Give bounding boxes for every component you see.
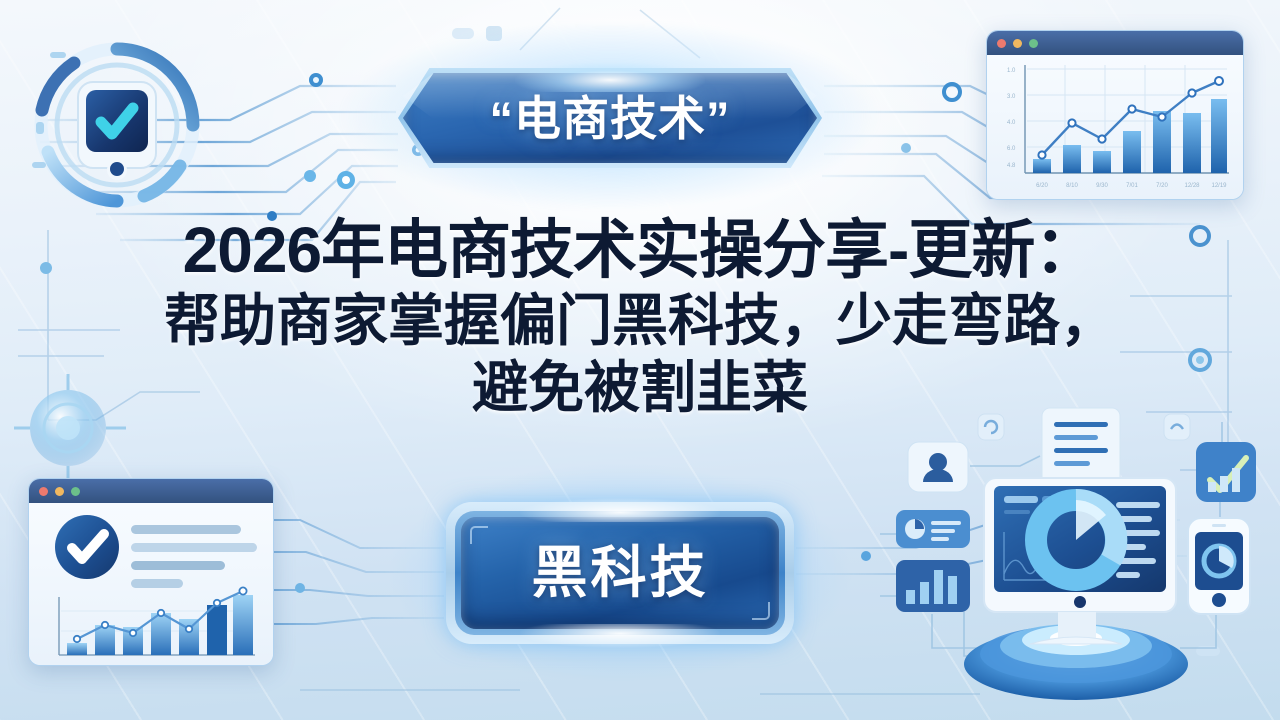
svg-text:7/01: 7/01 [1126,183,1138,189]
headline-line-1: 2026年电商技术实操分享-更新： [0,218,1280,283]
svg-text:8/10: 8/10 [1066,183,1078,189]
desktop-monitor [984,478,1176,644]
poster-root: 1.03.04.0 6.04.8 [0,0,1280,720]
window-body [29,503,273,665]
text-placeholder-lines [131,525,257,588]
svg-text:6.0: 6.0 [1007,146,1016,152]
svg-text:4.8: 4.8 [1007,163,1016,169]
headline-line-2: 帮助商家掌握偏门黑科技，少走弯路， [0,289,1280,354]
pie-summary-card [896,510,970,548]
svg-text:4.0: 4.0 [1007,120,1016,126]
growth-checklist-card [1196,442,1256,502]
smartphone-device [1188,518,1250,614]
top-hex-badge[interactable]: “电商技术” [398,68,822,168]
svg-text:12/28: 12/28 [1184,183,1200,189]
bar-summary-card [896,560,970,612]
svg-text:12/19: 12/19 [1211,183,1227,189]
cta-inner-face: 黑科技 [461,517,779,629]
minimize-dot[interactable] [55,487,64,496]
badge-label: “电商技术” [490,95,731,142]
svg-text:9/30: 9/30 [1096,183,1108,189]
report-browser-window[interactable] [28,478,274,666]
dashboard-device-cluster [880,398,1280,720]
window-titlebar [987,31,1243,55]
window-body: 1.03.04.0 6.04.8 [987,55,1243,199]
svg-text:7/20: 7/20 [1156,183,1168,189]
maximize-dot[interactable] [1029,39,1038,48]
cta-spark-top [520,498,720,522]
bar-line-chart: 1.03.04.0 6.04.8 [987,55,1243,199]
cta-spark-bottom [520,624,720,648]
cta-corner-tl-icon [470,526,488,544]
user-avatar-card [908,442,968,492]
headline-line-3: 避免被割韭菜 [0,356,1280,421]
analytics-browser-window[interactable]: 1.03.04.0 6.04.8 [986,30,1244,200]
verified-device-ring-badge [22,30,212,220]
svg-text:3.0: 3.0 [1007,94,1016,100]
close-dot[interactable] [997,39,1006,48]
minimize-dot[interactable] [1013,39,1022,48]
tablet-device-icon [78,82,156,180]
maximize-dot[interactable] [71,487,80,496]
window-titlebar [29,479,273,503]
cta-label: 黑科技 [532,545,709,601]
svg-text:6/20: 6/20 [1036,183,1048,189]
headline-block: 2026年电商技术实操分享-更新： 帮助商家掌握偏门黑科技，少走弯路， 避免被割… [0,218,1280,421]
check-circle-icon [55,515,119,579]
cta-corner-br-icon [752,602,770,620]
badge-inner-face: “电商技术” [403,73,817,163]
svg-text:1.0: 1.0 [1007,68,1016,74]
close-dot[interactable] [39,487,48,496]
cta-button[interactable]: 黑科技 [446,502,794,644]
